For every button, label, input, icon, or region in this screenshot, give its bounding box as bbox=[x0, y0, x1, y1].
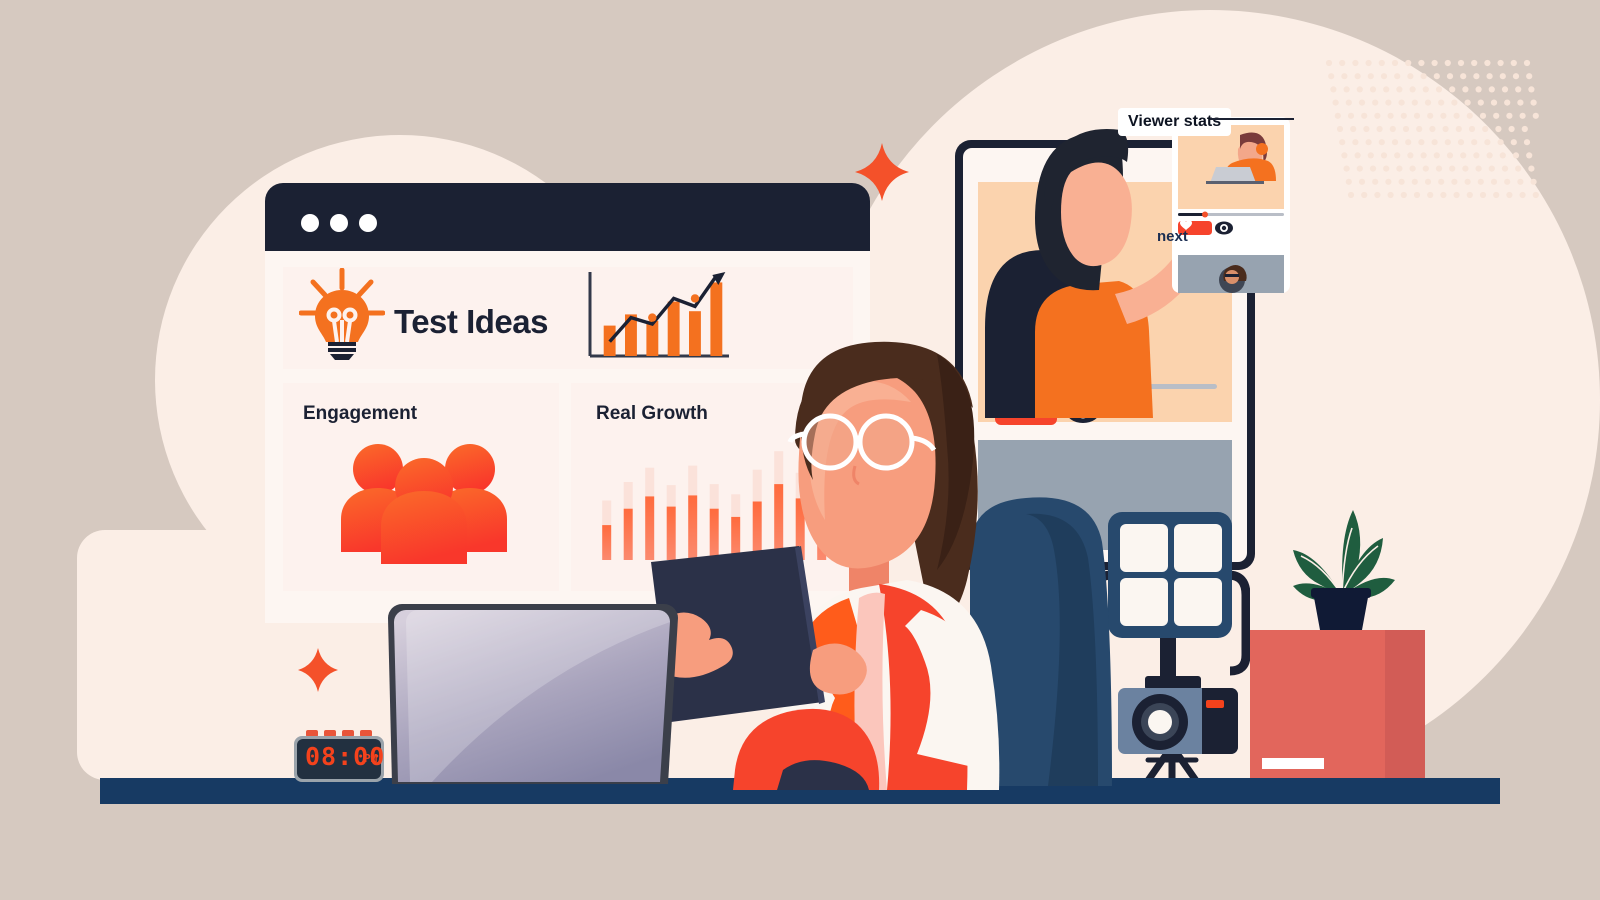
grid-dot bbox=[1372, 179, 1378, 185]
grid-dot bbox=[1423, 166, 1429, 172]
grid-dot bbox=[1467, 192, 1473, 198]
people-group-icon bbox=[337, 440, 511, 564]
grid-dot bbox=[1361, 192, 1367, 198]
grid-dot bbox=[1454, 113, 1460, 119]
grid-dot bbox=[1410, 166, 1416, 172]
grid-dot bbox=[1438, 179, 1444, 185]
grid-dot bbox=[1451, 100, 1457, 106]
grid-dot bbox=[1410, 86, 1416, 92]
camera-lens-glass bbox=[1148, 710, 1172, 734]
grid-dot bbox=[1425, 100, 1431, 106]
grid-dot bbox=[1520, 192, 1526, 198]
grid-dot bbox=[1476, 166, 1482, 172]
grid-dot bbox=[1434, 73, 1440, 79]
grid-dot bbox=[1484, 60, 1490, 66]
grid-dot bbox=[1465, 179, 1471, 185]
grid-dot bbox=[1458, 60, 1464, 66]
card-title-engagement: Engagement bbox=[303, 403, 417, 425]
popup-headphone-icon bbox=[1256, 143, 1268, 155]
grid-dot bbox=[1388, 192, 1394, 198]
grid-dot bbox=[1346, 100, 1352, 106]
grid-dot bbox=[1462, 86, 1468, 92]
grid-dot bbox=[1346, 179, 1352, 185]
dslr-camera bbox=[1098, 660, 1258, 795]
grid-dot bbox=[1392, 60, 1398, 66]
grid-dot bbox=[1506, 113, 1512, 119]
grid-dot bbox=[1366, 60, 1372, 66]
red-cabinet bbox=[1250, 630, 1425, 790]
grid-dot bbox=[1377, 126, 1383, 132]
grid-dot bbox=[1370, 166, 1376, 172]
growth-bar-achieved bbox=[624, 509, 633, 560]
grid-dot bbox=[1333, 100, 1339, 106]
grid-dot bbox=[1533, 113, 1539, 119]
popup-connector bbox=[1210, 115, 1294, 123]
grid-dot bbox=[1427, 113, 1433, 119]
grid-dot bbox=[1484, 139, 1490, 145]
grid-dot bbox=[1500, 73, 1506, 79]
grid-dot bbox=[1524, 60, 1530, 66]
grid-dot bbox=[1385, 100, 1391, 106]
grid-dot bbox=[1394, 152, 1400, 158]
grid-dot bbox=[1513, 152, 1519, 158]
dot-grid-decoration bbox=[1325, 55, 1540, 205]
camera-indicator bbox=[1206, 700, 1224, 708]
grid-dot bbox=[1381, 152, 1387, 158]
grid-dot bbox=[1440, 113, 1446, 119]
grid-dot bbox=[1436, 86, 1442, 92]
grid-dot bbox=[1524, 139, 1530, 145]
grid-dot bbox=[1473, 152, 1479, 158]
grid-dot bbox=[1374, 113, 1380, 119]
grid-dot bbox=[1392, 139, 1398, 145]
window-dot-2[interactable] bbox=[330, 214, 348, 232]
popup-next-label: next bbox=[1157, 228, 1188, 245]
grid-dot bbox=[1469, 126, 1475, 132]
grid-dot bbox=[1491, 179, 1497, 185]
grid-dot bbox=[1421, 73, 1427, 79]
person-center-body bbox=[381, 491, 467, 564]
grid-dot bbox=[1520, 113, 1526, 119]
grid-dot bbox=[1465, 100, 1471, 106]
lightbulb-base bbox=[328, 342, 356, 360]
plant-leaves bbox=[1293, 510, 1395, 600]
grid-dot bbox=[1504, 100, 1510, 106]
grid-dot bbox=[1451, 179, 1457, 185]
trend-marker bbox=[648, 313, 656, 321]
grid-dot bbox=[1326, 60, 1332, 66]
grid-dot bbox=[1440, 192, 1446, 198]
grid-dot bbox=[1489, 166, 1495, 172]
grid-dot bbox=[1330, 86, 1336, 92]
grid-dot bbox=[1401, 192, 1407, 198]
plant-pot bbox=[1313, 592, 1369, 633]
grid-dot bbox=[1454, 192, 1460, 198]
grid-dot bbox=[1341, 73, 1347, 79]
grid-dot bbox=[1480, 113, 1486, 119]
window-control-dots[interactable] bbox=[301, 214, 377, 232]
growth-bar-potential bbox=[602, 501, 611, 526]
grid-dot bbox=[1425, 179, 1431, 185]
grid-dot bbox=[1337, 126, 1343, 132]
grid-dot bbox=[1515, 166, 1521, 172]
grid-dot bbox=[1526, 152, 1532, 158]
plant-pot-rim bbox=[1311, 588, 1371, 598]
grid-dot bbox=[1350, 126, 1356, 132]
grid-dot bbox=[1531, 100, 1537, 106]
grid-dot bbox=[1502, 86, 1508, 92]
grid-dot bbox=[1341, 152, 1347, 158]
grid-dot bbox=[1357, 166, 1363, 172]
grid-dot bbox=[1533, 192, 1539, 198]
grid-dot bbox=[1480, 192, 1486, 198]
grid-dot bbox=[1531, 179, 1537, 185]
grid-dot bbox=[1476, 86, 1482, 92]
grid-dot bbox=[1368, 152, 1374, 158]
grid-dot bbox=[1460, 73, 1466, 79]
grid-dot bbox=[1493, 192, 1499, 198]
grid-dot bbox=[1482, 126, 1488, 132]
grid-dot bbox=[1383, 86, 1389, 92]
grid-dot bbox=[1385, 179, 1391, 185]
grid-dot bbox=[1379, 139, 1385, 145]
grid-dot bbox=[1517, 100, 1523, 106]
grid-dot bbox=[1462, 166, 1468, 172]
grid-dot bbox=[1506, 192, 1512, 198]
cabinet-side bbox=[1385, 630, 1425, 785]
window-dot-3[interactable] bbox=[359, 214, 377, 232]
grid-dot bbox=[1445, 139, 1451, 145]
grid-dot bbox=[1339, 139, 1345, 145]
grid-dot bbox=[1445, 60, 1451, 66]
grid-dot bbox=[1423, 86, 1429, 92]
grid-dot bbox=[1429, 126, 1435, 132]
grid-dot bbox=[1359, 100, 1365, 106]
grid-dot bbox=[1414, 192, 1420, 198]
grid-dot bbox=[1449, 166, 1455, 172]
grid-dot bbox=[1344, 86, 1350, 92]
grid-dot bbox=[1370, 86, 1376, 92]
grid-dot bbox=[1412, 100, 1418, 106]
grid-dot bbox=[1355, 73, 1361, 79]
grid-dot bbox=[1502, 166, 1508, 172]
grid-dot bbox=[1449, 86, 1455, 92]
grid-dot bbox=[1443, 126, 1449, 132]
grid-dot bbox=[1473, 73, 1479, 79]
woman-with-tablet bbox=[645, 330, 1045, 790]
grid-dot bbox=[1363, 126, 1369, 132]
grid-dot bbox=[1421, 152, 1427, 158]
grid-dot bbox=[1478, 179, 1484, 185]
grid-dot bbox=[1493, 113, 1499, 119]
grid-dot bbox=[1405, 139, 1411, 145]
grid-dot bbox=[1478, 100, 1484, 106]
grid-dot bbox=[1500, 152, 1506, 158]
grid-dot bbox=[1447, 152, 1453, 158]
grid-dot bbox=[1509, 126, 1515, 132]
grid-dot bbox=[1344, 166, 1350, 172]
grid-dot bbox=[1355, 152, 1361, 158]
grid-dot bbox=[1511, 60, 1517, 66]
grid-dot bbox=[1418, 60, 1424, 66]
grid-dot bbox=[1432, 60, 1438, 66]
grid-dot bbox=[1416, 126, 1422, 132]
grid-dot bbox=[1427, 192, 1433, 198]
grid-dot bbox=[1361, 113, 1367, 119]
grid-dot bbox=[1460, 152, 1466, 158]
grid-dot bbox=[1383, 166, 1389, 172]
grid-dot bbox=[1522, 126, 1528, 132]
grid-dot bbox=[1414, 113, 1420, 119]
grid-dot bbox=[1511, 139, 1517, 145]
grid-dot bbox=[1489, 86, 1495, 92]
popup-progress-knob[interactable] bbox=[1202, 212, 1208, 218]
grid-dot bbox=[1528, 166, 1534, 172]
grid-dot bbox=[1394, 73, 1400, 79]
grid-dot bbox=[1348, 113, 1354, 119]
sparkle-top-icon bbox=[855, 143, 909, 201]
grid-dot bbox=[1396, 166, 1402, 172]
grid-dot bbox=[1396, 86, 1402, 92]
grid-dot bbox=[1513, 73, 1519, 79]
popup-progress-played[interactable] bbox=[1178, 213, 1204, 216]
grid-dot bbox=[1366, 139, 1372, 145]
popup-label: Viewer stats bbox=[1128, 113, 1221, 130]
grid-dot bbox=[1458, 139, 1464, 145]
grid-dot bbox=[1526, 73, 1532, 79]
grid-dot bbox=[1339, 60, 1345, 66]
grid-dot bbox=[1390, 126, 1396, 132]
page-title: Test Ideas bbox=[394, 303, 548, 341]
grid-dot bbox=[1372, 100, 1378, 106]
growth-bar-achieved bbox=[602, 525, 611, 560]
growth-bar-potential bbox=[624, 482, 633, 509]
cabinet-handle bbox=[1262, 758, 1324, 769]
grid-dot bbox=[1528, 86, 1534, 92]
laptop[interactable] bbox=[372, 598, 692, 790]
popup-laptop bbox=[1210, 167, 1256, 183]
grid-dot bbox=[1405, 60, 1411, 66]
grid-dot bbox=[1379, 60, 1385, 66]
grid-dot bbox=[1412, 179, 1418, 185]
grid-dot bbox=[1407, 73, 1413, 79]
grid-dot bbox=[1403, 126, 1409, 132]
grid-dot bbox=[1471, 139, 1477, 145]
lightbulb-icon bbox=[299, 268, 385, 360]
grid-dot bbox=[1438, 100, 1444, 106]
grid-dot bbox=[1498, 139, 1504, 145]
grid-dot bbox=[1432, 139, 1438, 145]
grid-dot bbox=[1335, 113, 1341, 119]
grid-dot bbox=[1504, 179, 1510, 185]
grid-dot bbox=[1467, 113, 1473, 119]
grid-dot bbox=[1407, 152, 1413, 158]
grid-dot bbox=[1491, 100, 1497, 106]
grid-dot bbox=[1418, 139, 1424, 145]
grid-dot bbox=[1352, 139, 1358, 145]
window-dot-1[interactable] bbox=[301, 214, 319, 232]
grid-dot bbox=[1359, 179, 1365, 185]
clock-buttons[interactable] bbox=[306, 730, 372, 737]
trend-marker bbox=[691, 294, 699, 302]
grid-dot bbox=[1495, 126, 1501, 132]
grid-dot bbox=[1328, 73, 1334, 79]
grid-dot bbox=[1498, 60, 1504, 66]
camera-grip bbox=[1202, 688, 1238, 754]
camera-viewfinder bbox=[1145, 676, 1201, 690]
potted-plant bbox=[1285, 498, 1395, 633]
grid-dot bbox=[1399, 179, 1405, 185]
grid-dot bbox=[1401, 113, 1407, 119]
grid-dot bbox=[1381, 73, 1387, 79]
grid-dot bbox=[1352, 60, 1358, 66]
grid-dot bbox=[1471, 60, 1477, 66]
sparkle-bottom-icon bbox=[298, 648, 338, 692]
grid-dot bbox=[1447, 73, 1453, 79]
grid-dot bbox=[1517, 179, 1523, 185]
grid-dot bbox=[1399, 100, 1405, 106]
grid-dot bbox=[1388, 113, 1394, 119]
grid-dot bbox=[1456, 126, 1462, 132]
grid-dot bbox=[1434, 152, 1440, 158]
illustration-scene: Test Ideas Engagement Real Growth bbox=[0, 0, 1600, 900]
grid-dot bbox=[1436, 166, 1442, 172]
grid-dot bbox=[1515, 86, 1521, 92]
grid-dot bbox=[1487, 152, 1493, 158]
grid-dot bbox=[1374, 192, 1380, 198]
grid-dot bbox=[1487, 73, 1493, 79]
grid-dot bbox=[1368, 73, 1374, 79]
grid-dot bbox=[1348, 192, 1354, 198]
grid-dot bbox=[1357, 86, 1363, 92]
